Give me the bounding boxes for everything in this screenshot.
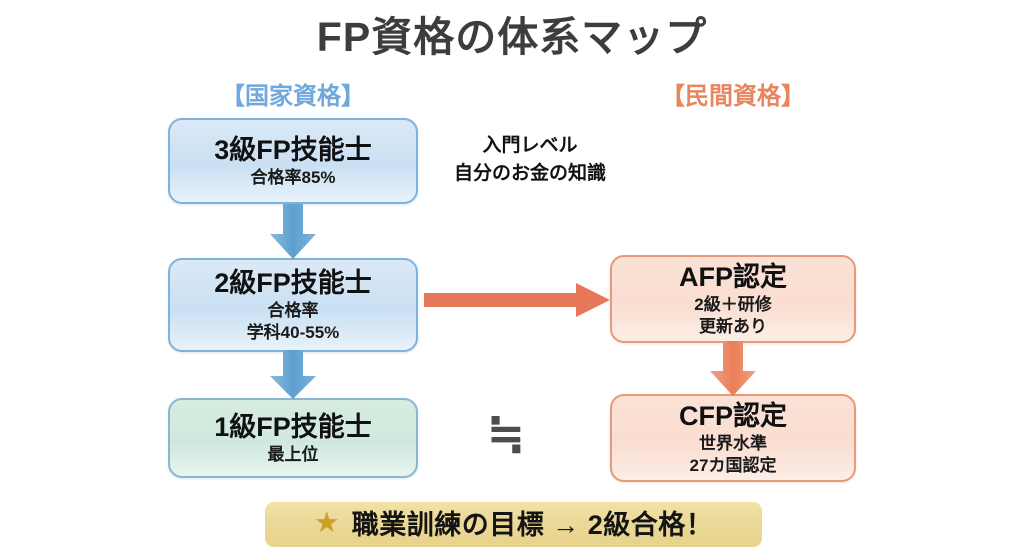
box-afp: AFP認定 2級＋研修 更新あり [610,255,856,343]
box-grade2-fp: 2級FP技能士 合格率 学科40-55% [168,258,418,352]
note-entry-level: 入門レベル 自分のお金の知識 [425,132,635,188]
box-cfp-sub2: 27カ国認定 [690,455,777,477]
box-grade3-sub1: 合格率85% [250,167,335,189]
page-title: FP資格の体系マップ [0,12,1024,62]
goal-banner: ★ 職業訓練の目標 → 2級合格！ [265,502,762,547]
box-cfp: CFP認定 世界水準 27カ国認定 [610,394,856,482]
box-grade1-fp: 1級FP技能士 最上位 [168,398,418,478]
goal-banner-text: 職業訓練の目標 → 2級合格！ [352,508,714,542]
box-grade2-title: 2級FP技能士 [214,266,372,300]
fp-qualification-map: FP資格の体系マップ 【国家資格】 【民間資格】 3級FP技能士 合格率85% … [0,0,1024,559]
note-line-1: 入門レベル [425,132,635,160]
star-icon: ★ [314,509,340,538]
column-header-national: 【国家資格】 [168,82,418,112]
nearly-equal-symbol: ≒ [470,404,542,462]
box-grade3-title: 3級FP技能士 [214,133,372,167]
box-grade1-title: 1級FP技能士 [214,410,372,444]
box-afp-title: AFP認定 [679,260,787,294]
box-grade3-fp: 3級FP技能士 合格率85% [168,118,418,204]
box-afp-sub1: 2級＋研修 [694,294,771,316]
arrow-right-icon-grade2-to-afp [424,282,612,318]
note-line-2: 自分のお金の知識 [425,160,635,188]
column-header-private: 【民間資格】 [610,82,856,112]
box-grade1-sub1: 最上位 [268,444,319,466]
box-grade2-sub1: 合格率 [268,300,319,322]
box-grade2-sub2: 学科40-55% [247,322,340,344]
arrow-down-icon-grade2-to-grade1 [268,350,318,400]
box-cfp-sub1: 世界水準 [699,433,767,455]
arrow-down-icon-afp-to-cfp [708,341,758,397]
box-afp-sub2: 更新あり [699,316,767,338]
arrow-down-icon-grade3-to-grade2 [268,204,318,260]
box-cfp-title: CFP認定 [679,399,787,433]
